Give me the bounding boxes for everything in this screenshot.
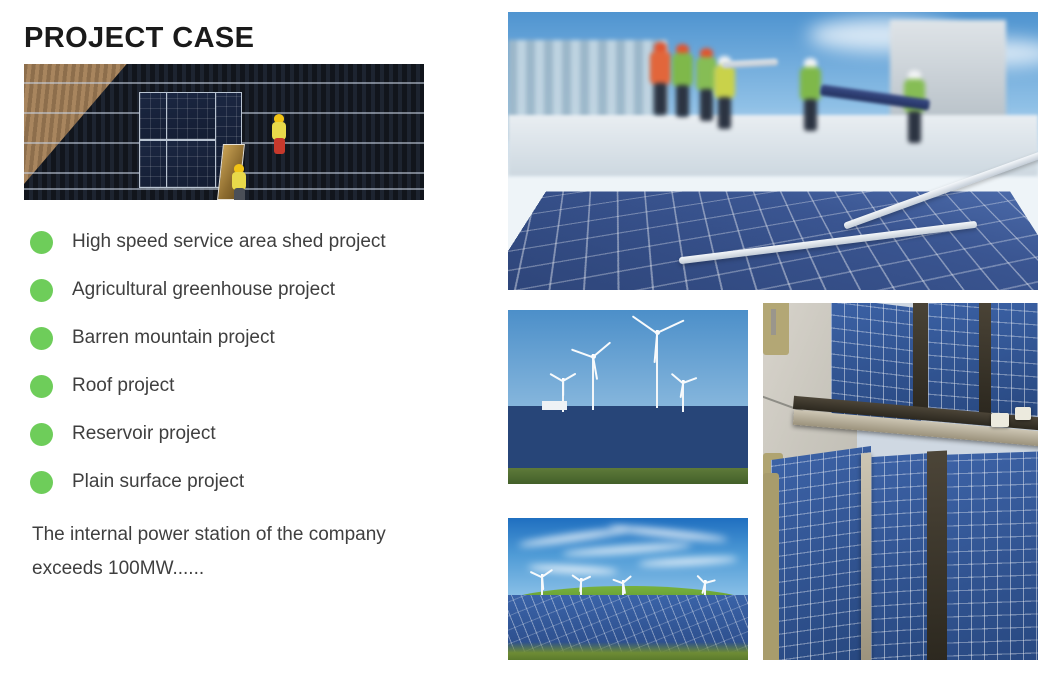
list-item-label: Roof project — [72, 375, 174, 397]
list-item-label: Barren mountain project — [72, 327, 275, 349]
worker-legs — [234, 188, 245, 200]
photo-wind-solar — [508, 310, 748, 484]
rooftop-equipment — [991, 413, 1009, 427]
service-shed — [542, 401, 567, 410]
photo-roof — [24, 64, 424, 200]
list-item[interactable]: Plain surface project — [24, 458, 474, 506]
wind-turbine-icon — [640, 330, 674, 408]
solar-block — [945, 451, 1038, 660]
page-title: PROJECT CASE — [24, 22, 254, 55]
verge — [763, 473, 779, 660]
solar-array-foreground — [508, 191, 1038, 290]
worker-legs — [700, 89, 713, 121]
solar-block — [771, 446, 871, 660]
list-item[interactable]: Roof project — [24, 362, 474, 410]
grass-strip — [508, 468, 748, 484]
grass-strip — [508, 642, 748, 660]
bullet-dot-icon — [30, 471, 53, 494]
list-item-label: Reservoir project — [72, 423, 216, 445]
safety-vest — [672, 53, 693, 87]
photo-aerial-array — [763, 303, 1038, 660]
bullet-dot-icon — [30, 375, 53, 398]
roof-seam — [24, 82, 424, 84]
worker-legs — [804, 99, 817, 131]
list-item[interactable]: Reservoir project — [24, 410, 474, 458]
list-item[interactable]: Agricultural greenhouse project — [24, 266, 474, 314]
list-item[interactable]: High speed service area shed project — [24, 218, 474, 266]
verge — [763, 303, 789, 355]
turbine-blade — [541, 577, 544, 590]
safety-vest — [650, 51, 671, 85]
summary-text: The internal power station of the compan… — [32, 518, 452, 586]
worker-legs — [908, 111, 921, 143]
roof-gap — [979, 303, 991, 414]
list-item-label: High speed service area shed project — [72, 231, 386, 253]
light-pole — [771, 309, 776, 335]
worker-legs — [676, 85, 689, 117]
wind-turbine-icon — [580, 354, 606, 410]
photo-sky-field — [508, 518, 748, 660]
wind-turbine-icon — [674, 380, 692, 412]
roof-seam-rail — [861, 453, 871, 660]
solar-block — [871, 453, 933, 660]
sky-background — [508, 310, 748, 414]
roof-gap — [927, 450, 947, 660]
roof-gap — [913, 303, 928, 416]
list-item-label: Agricultural greenhouse project — [72, 279, 335, 301]
solar-block — [985, 303, 1038, 417]
project-list: High speed service area shed project Agr… — [24, 218, 474, 506]
rooftop-equipment — [1015, 407, 1031, 420]
bullet-dot-icon — [30, 279, 53, 302]
rooftop-deck — [508, 115, 1038, 176]
bullet-dot-icon — [30, 423, 53, 446]
bullet-dot-icon — [30, 231, 53, 254]
bullet-dot-icon — [30, 327, 53, 350]
project-case-slide: PROJECT CASE High speed service ar — [0, 0, 1060, 689]
list-item-label: Plain surface project — [72, 471, 244, 493]
worker-legs — [274, 138, 285, 154]
safety-vest — [800, 67, 821, 101]
photo-rooftop-crew — [508, 12, 1038, 290]
worker-legs — [718, 97, 731, 129]
safety-vest — [714, 65, 735, 99]
list-item[interactable]: Barren mountain project — [24, 314, 474, 362]
turbine-blade — [562, 381, 564, 396]
worker-legs — [654, 83, 667, 115]
